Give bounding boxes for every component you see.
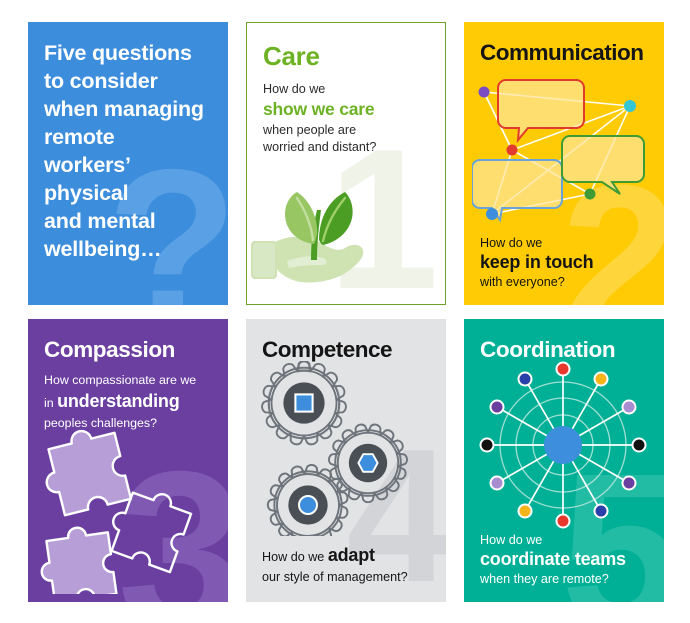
intro-title-line: and mental bbox=[44, 209, 156, 233]
node-8 bbox=[481, 439, 494, 452]
speech-bubbles-network-icon bbox=[472, 74, 658, 226]
node-bottom bbox=[557, 515, 570, 528]
node-10 bbox=[519, 373, 532, 386]
node-1 bbox=[595, 373, 608, 386]
care-question-line4: worried and distant? bbox=[263, 140, 376, 154]
infographic-board: ? Five questions to consider when managi… bbox=[0, 0, 690, 623]
hand-holding-plant-icon bbox=[251, 168, 401, 288]
compassion-question-prefix: in bbox=[44, 396, 57, 410]
node-4 bbox=[623, 477, 636, 490]
competence-question-highlight: adapt bbox=[328, 545, 375, 565]
compassion-heading: Compassion bbox=[44, 337, 212, 363]
care-heading: Care bbox=[263, 41, 429, 72]
node-7 bbox=[491, 477, 504, 490]
gears-icon bbox=[258, 361, 418, 536]
competence-card: 4 bbox=[246, 319, 446, 602]
coordination-question-highlight: coordinate teams bbox=[480, 549, 626, 571]
communication-question-line3: with everyone? bbox=[480, 275, 565, 289]
compassion-question-line3: peoples challenges? bbox=[44, 415, 212, 432]
care-question-highlight: show we care bbox=[263, 99, 429, 120]
gear-square bbox=[261, 361, 346, 446]
gear-hexagon bbox=[328, 423, 407, 502]
blue-node bbox=[486, 208, 498, 220]
coordination-question: How do we coordinate teams when they are… bbox=[480, 532, 626, 588]
coordination-heading: Coordination bbox=[480, 337, 648, 363]
compassion-card: 3 Compassion How compassionate are we in… bbox=[28, 319, 228, 602]
node-2 bbox=[623, 401, 636, 414]
competence-question-prefix: How do we bbox=[262, 550, 328, 564]
intro-title-line: remote bbox=[44, 125, 115, 149]
coordination-question-line1: How do we bbox=[480, 533, 542, 547]
node-3 bbox=[633, 439, 646, 452]
red-node bbox=[507, 145, 518, 156]
blue-bubble bbox=[472, 160, 562, 220]
radial-hub-network-icon bbox=[470, 357, 656, 533]
competence-question-line1: How do we adapt bbox=[262, 542, 408, 568]
competence-heading: Competence bbox=[262, 337, 430, 363]
compassion-question-highlight: understanding bbox=[57, 391, 179, 411]
cyan-node bbox=[624, 100, 636, 112]
node-9 bbox=[491, 401, 504, 414]
care-question-line3: when people are bbox=[263, 123, 356, 137]
communication-question-highlight: keep in touch bbox=[480, 252, 593, 274]
care-question-line1: How do we bbox=[263, 82, 325, 96]
competence-question-line2: our style of management? bbox=[262, 568, 408, 586]
purple-node bbox=[479, 87, 490, 98]
communication-card: 2 bbox=[464, 22, 664, 305]
intro-title-line: physical bbox=[44, 181, 128, 205]
compassion-question-line1: How compassionate are we bbox=[44, 372, 212, 389]
green-node bbox=[585, 189, 596, 200]
hub-node bbox=[544, 426, 582, 464]
intro-title-line: workers’ bbox=[44, 153, 131, 177]
node-top bbox=[557, 363, 570, 376]
jigsaw-puzzle-pieces-icon bbox=[38, 414, 218, 594]
red-bubble bbox=[498, 80, 584, 140]
intro-title-line: wellbeing… bbox=[44, 237, 161, 261]
intro-card: ? Five questions to consider when managi… bbox=[28, 22, 228, 305]
intro-title-line: Five questions bbox=[44, 41, 192, 65]
communication-question: How do we keep in touch with everyone? bbox=[480, 235, 593, 291]
puzzle-piece-filled-3 bbox=[38, 523, 116, 594]
communication-heading: Communication bbox=[480, 40, 648, 66]
communication-question-line1: How do we bbox=[480, 236, 542, 250]
intro-title-line: when managing bbox=[44, 97, 204, 121]
coordination-card: 5 bbox=[464, 319, 664, 602]
care-card: 1 Care How do we show we care when peopl… bbox=[246, 22, 446, 305]
compassion-question: How compassionate are we in understandin… bbox=[44, 372, 212, 432]
node-5 bbox=[595, 505, 608, 518]
coordination-question-line3: when they are remote? bbox=[480, 572, 609, 586]
intro-title-line: to consider bbox=[44, 69, 158, 93]
care-question: How do we show we care when people are w… bbox=[263, 81, 429, 156]
puzzle-piece-filled-1 bbox=[38, 423, 131, 518]
competence-question: How do we adapt our style of management? bbox=[262, 542, 408, 586]
node-6 bbox=[519, 505, 532, 518]
compassion-question-line2: in understanding bbox=[44, 389, 212, 414]
intro-title: Five questions to consider when managing… bbox=[44, 40, 212, 264]
